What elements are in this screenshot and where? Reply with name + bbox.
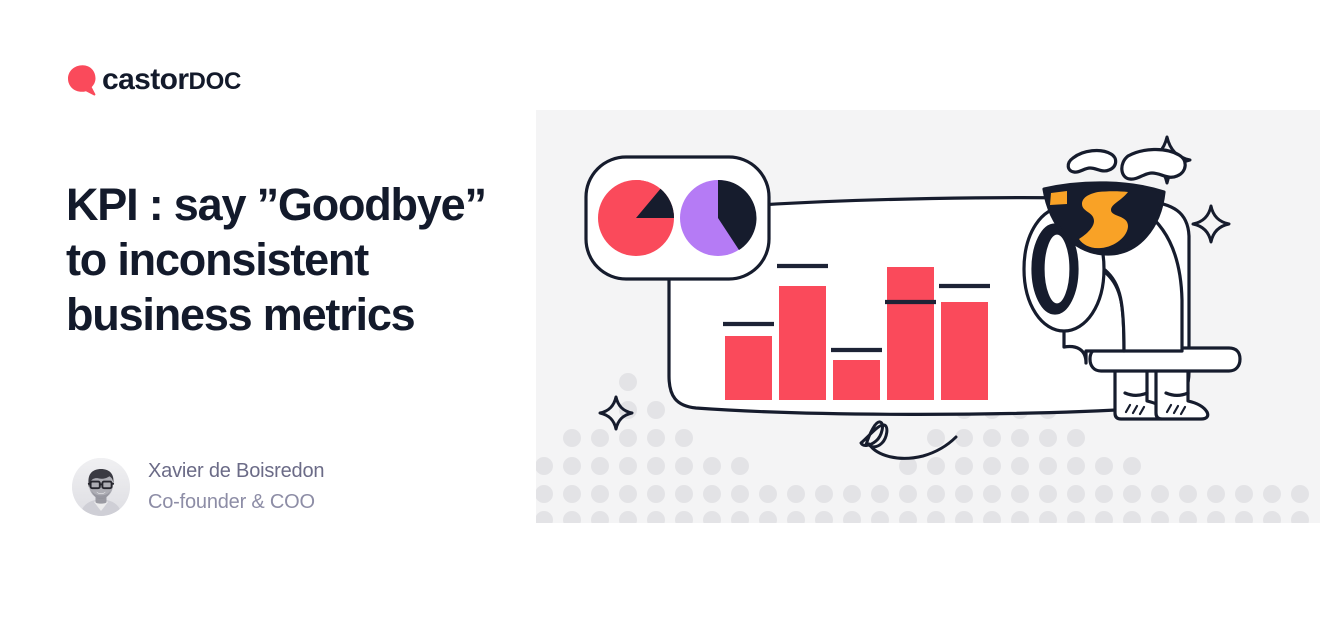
character-eyebrows <box>1068 149 1185 179</box>
bar-5 <box>941 302 988 400</box>
character-shoes <box>1115 369 1208 419</box>
author-role: Co-founder & COO <box>148 487 324 518</box>
article-hero-card: castorDOC KPI : say ”Goodbye” to inconsi… <box>0 0 1320 622</box>
hero-illustration-panel <box>536 110 1320 523</box>
brand-logo[interactable]: castorDOC <box>66 58 241 102</box>
pie-chart-left <box>598 180 674 256</box>
bar-2 <box>779 286 826 400</box>
bar-3 <box>833 360 880 400</box>
author-text: Xavier de Boisredon Co-founder & COO <box>148 456 324 518</box>
pie-chart-right <box>680 180 757 256</box>
bar-1 <box>725 336 772 400</box>
castor-teardrop-logo-icon <box>66 63 102 97</box>
content-column: castorDOC KPI : say ”Goodbye” to inconsi… <box>0 0 536 622</box>
brand-word-secondary: DOC <box>188 70 241 94</box>
author-name: Xavier de Boisredon <box>148 456 324 487</box>
page-title: KPI : say ”Goodbye” to inconsistent busi… <box>66 178 506 343</box>
author-portrait-avatar <box>72 458 130 516</box>
bar-4 <box>887 267 934 400</box>
author-block: Xavier de Boisredon Co-founder & COO <box>72 456 324 518</box>
sparkle-icon-right <box>1193 206 1229 242</box>
pie-chart-card <box>586 157 769 279</box>
brand-word-primary: castor <box>102 65 188 95</box>
brand-wordmark: castorDOC <box>102 65 241 95</box>
